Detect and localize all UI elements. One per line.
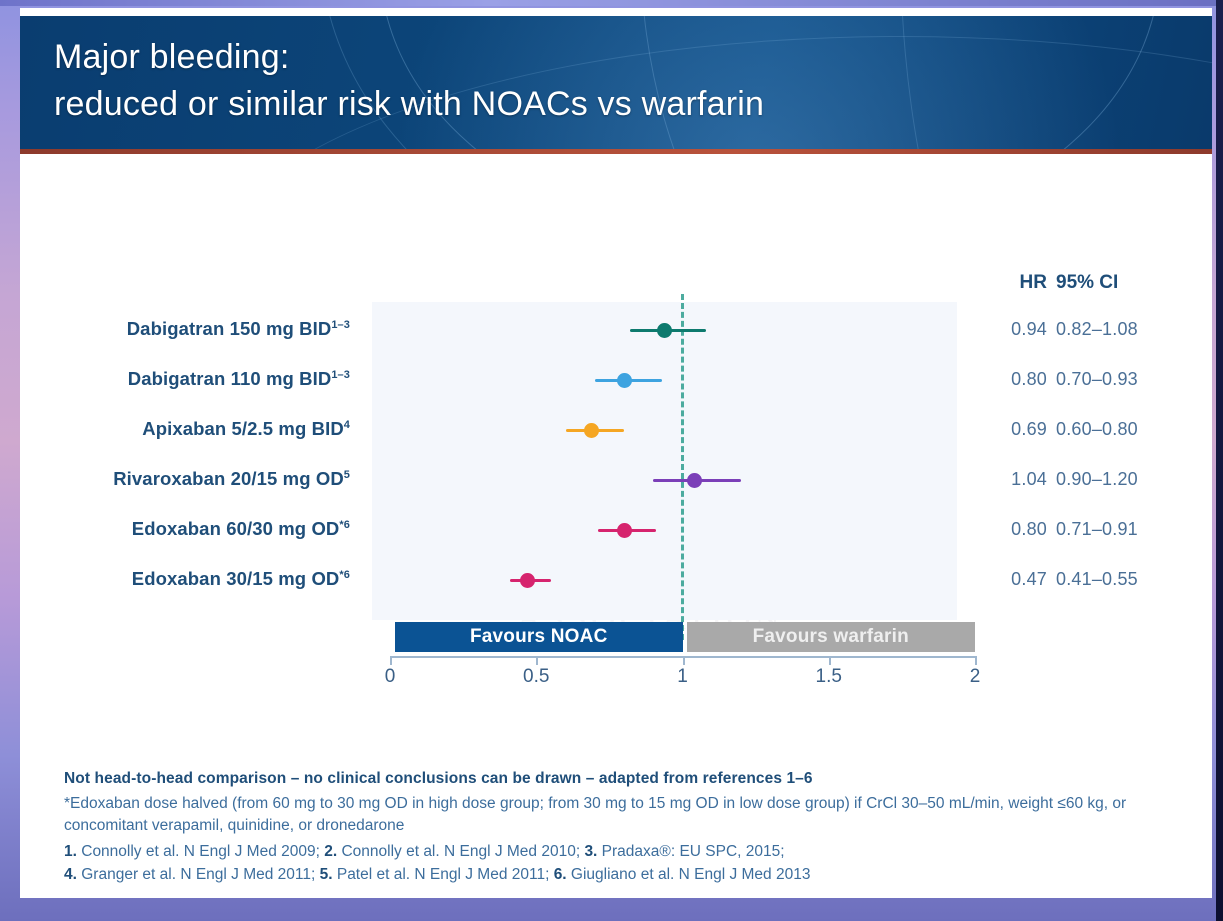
row-label-reference: 1–3	[331, 369, 350, 381]
axis-tick	[390, 656, 392, 665]
axis-tick	[975, 656, 977, 665]
ci-value: 0.90–1.20	[1056, 469, 1206, 490]
slide-decorative-frame: Major bleeding: reduced or similar risk …	[0, 0, 1223, 921]
hr-value: 0.94	[995, 319, 1047, 340]
row-label-reference: 4	[344, 419, 350, 431]
point-estimate-marker	[617, 523, 632, 538]
ci-value: 0.70–0.93	[1056, 369, 1206, 390]
footnote-headline: Not head-to-head comparison – no clinica…	[64, 770, 1134, 788]
axis-tick-label: 2	[945, 666, 1005, 688]
row-label-reference: *6	[339, 569, 350, 581]
axis-tick-label: 0.5	[506, 666, 566, 688]
ref-num-4: 4.	[64, 866, 77, 883]
point-estimate-marker	[657, 323, 672, 338]
frame-right-edge	[1216, 0, 1223, 921]
ref-text-2: Connolly et al. N Engl J Med 2010;	[337, 843, 584, 860]
row-label-reference: 1–3	[331, 319, 350, 331]
forest-plot-chart: HR 95% CI Dabigatran 150 mg BID1–30.940.…	[20, 154, 1212, 754]
ref-text-6: Giugliano et al. N Engl J Med 2013	[567, 866, 811, 883]
page-title: Major bleeding: reduced or similar risk …	[54, 34, 1054, 128]
presentation-slide: Major bleeding: reduced or similar risk …	[20, 8, 1212, 898]
forest-plot-row: Dabigatran 150 mg BID1–30.940.82–1.08	[20, 306, 1212, 354]
ci-value: 0.41–0.55	[1056, 569, 1206, 590]
favours-noac-bar: Favours NOAC	[395, 622, 683, 652]
ref-text-4: Granger et al. N Engl J Med 2011;	[77, 866, 320, 883]
row-label: Edoxaban 60/30 mg OD*6	[20, 518, 350, 540]
ref-num-1: 1.	[64, 843, 77, 860]
column-header-ci: 95% CI	[1056, 272, 1206, 294]
axis-tick-label: 1.5	[799, 666, 859, 688]
row-label: Dabigatran 110 mg BID1–3	[20, 368, 350, 390]
footnote-reference-line-2: 4. Granger et al. N Engl J Med 2011; 5. …	[64, 864, 1134, 887]
ci-value: 0.82–1.08	[1056, 319, 1206, 340]
hr-value: 0.80	[995, 519, 1047, 540]
ci-value: 0.71–0.91	[1056, 519, 1206, 540]
ref-num-3: 3.	[584, 843, 597, 860]
axis-tick-label: 1	[653, 666, 713, 688]
ref-text-5: Patel et al. N Engl J Med 2011;	[333, 866, 554, 883]
row-label: Rivaroxaban 20/15 mg OD5	[20, 468, 350, 490]
forest-plot-row: Dabigatran 110 mg BID1–30.800.70–0.93	[20, 356, 1212, 404]
hr-value: 0.47	[995, 569, 1047, 590]
hr-value: 0.80	[995, 369, 1047, 390]
row-label: Apixaban 5/2.5 mg BID4	[20, 418, 350, 440]
row-label-reference: *6	[339, 519, 350, 531]
point-estimate-marker	[584, 423, 599, 438]
ref-text-3: Pradaxa®: EU SPC, 2015;	[597, 843, 784, 860]
forest-plot-row: Edoxaban 30/15 mg OD*60.470.41–0.55	[20, 556, 1212, 604]
forest-plot-row: Edoxaban 60/30 mg OD*60.800.71–0.91	[20, 506, 1212, 554]
row-label: Edoxaban 30/15 mg OD*6	[20, 568, 350, 590]
axis-tick	[683, 656, 685, 665]
axis-tick	[829, 656, 831, 665]
favours-warfarin-bar: Favours warfarin	[687, 622, 976, 652]
footnotes-block: Not head-to-head comparison – no clinica…	[64, 770, 1134, 886]
forest-plot-row: Rivaroxaban 20/15 mg OD51.040.90–1.20	[20, 456, 1212, 504]
page-title-line-1: Major bleeding:	[54, 34, 1054, 81]
row-label-reference: 5	[344, 469, 350, 481]
axis-tick-label: 0	[360, 666, 420, 688]
ci-value: 0.60–0.80	[1056, 419, 1206, 440]
forest-plot-row: Apixaban 5/2.5 mg BID40.690.60–0.80	[20, 406, 1212, 454]
column-header-hr: HR	[995, 272, 1047, 294]
footnote-reference-line-1: 1. Connolly et al. N Engl J Med 2009; 2.…	[64, 841, 1134, 864]
hr-value: 0.69	[995, 419, 1047, 440]
frame-top-edge	[0, 0, 1223, 6]
row-label: Dabigatran 150 mg BID1–3	[20, 318, 350, 340]
point-estimate-marker	[617, 373, 632, 388]
hr-value: 1.04	[995, 469, 1047, 490]
point-estimate-marker	[520, 573, 535, 588]
slide-title-band: Major bleeding: reduced or similar risk …	[20, 16, 1212, 149]
ref-num-6: 6.	[554, 866, 567, 883]
footnote-star-note: *Edoxaban dose halved (from 60 mg to 30 …	[64, 793, 1134, 837]
page-title-line-2: reduced or similar risk with NOACs vs wa…	[54, 81, 1054, 128]
ref-text-1: Connolly et al. N Engl J Med 2009;	[77, 843, 324, 860]
ref-num-2: 2.	[324, 843, 337, 860]
ref-num-5: 5.	[320, 866, 333, 883]
point-estimate-marker	[687, 473, 702, 488]
axis-tick	[536, 656, 538, 665]
